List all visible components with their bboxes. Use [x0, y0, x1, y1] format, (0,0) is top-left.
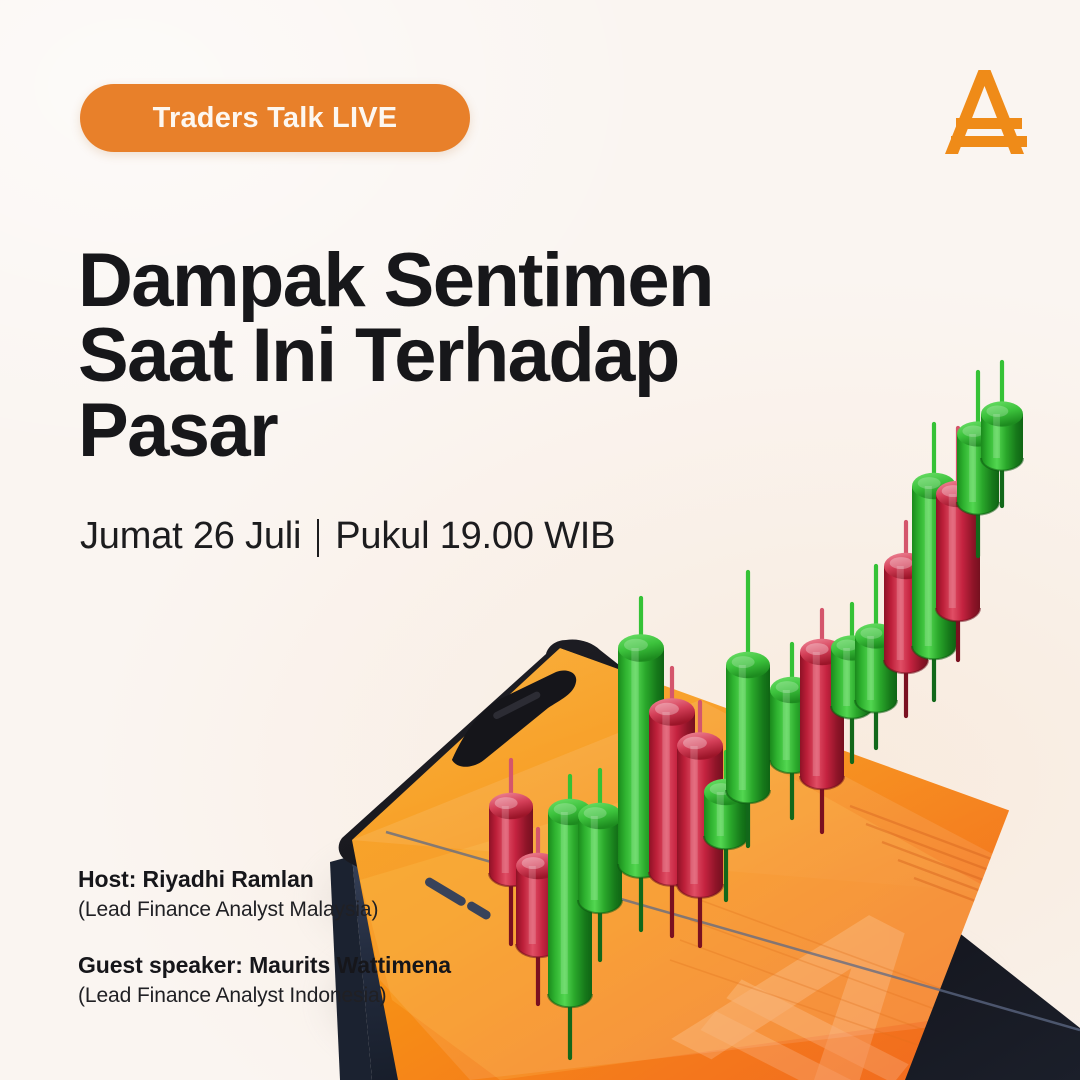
candlestick-8-bull: [704, 752, 748, 900]
candlestick-10-bull: [770, 644, 814, 818]
guest-name: Guest speaker: Maurits Wattimena: [78, 952, 451, 979]
title-line-2: Saat Ini Terhadap: [78, 318, 818, 393]
candlestick-6-bear: [649, 668, 695, 936]
candlestick-16-bear: [936, 428, 980, 660]
phone-body: [330, 639, 1080, 1080]
title-line-3: Pasar: [78, 393, 818, 468]
candlestick-15-bull: [912, 424, 956, 700]
candlestick-2-bear: [516, 829, 560, 1004]
schedule-date: Jumat 26 Juli: [80, 515, 301, 558]
a-logo-watermark-icon: [671, 880, 982, 1080]
candlestick-12-bull: [831, 604, 873, 762]
ascendex-a-logo-icon: [934, 60, 1038, 164]
page-title: Dampak Sentimen Saat Ini Terhadap Pasar: [78, 243, 818, 469]
candlestick-14-bear: [884, 522, 928, 716]
candlestick-1-bear: [489, 760, 533, 944]
schedule-separator: [317, 519, 319, 557]
title-line-1: Dampak Sentimen: [78, 243, 818, 318]
host-role: (Lead Finance Analyst Malaysia): [78, 898, 451, 922]
guest-role: (Lead Finance Analyst Indonesia): [78, 984, 451, 1008]
schedule-line: Jumat 26 Juli Pukul 19.00 WIB: [80, 515, 615, 558]
phone-notch-icon: [452, 670, 576, 766]
host-name: Host: Riyadhi Ramlan: [78, 866, 451, 893]
candlestick-11-bear: [800, 610, 844, 832]
brand-logo: [934, 60, 1038, 164]
candlestick-5-bull: [618, 598, 664, 930]
candlestick-4-bull: [578, 770, 622, 960]
screen-texture-lines: [670, 900, 1080, 1080]
schedule-time: Pukul 19.00 WIB: [335, 515, 615, 558]
candlestick-9-bull: [726, 572, 770, 846]
candlestick-17-bull: [957, 372, 999, 556]
poster-canvas: Traders Talk LIVE Dampak Sentimen Saat I…: [0, 0, 1080, 1080]
screen-speed-lines: [850, 806, 1074, 938]
credits-block: Host: Riyadhi Ramlan (Lead Finance Analy…: [78, 866, 451, 1008]
candlestick-18-bull: [981, 362, 1023, 506]
credits-spacer: [78, 922, 451, 952]
candlestick-3-bull: [548, 776, 592, 1058]
candlestick-13-bull: [855, 566, 897, 748]
live-badge-label: Traders Talk LIVE: [153, 102, 398, 135]
candlestick-7-bear: [677, 702, 723, 946]
live-badge[interactable]: Traders Talk LIVE: [80, 84, 470, 152]
